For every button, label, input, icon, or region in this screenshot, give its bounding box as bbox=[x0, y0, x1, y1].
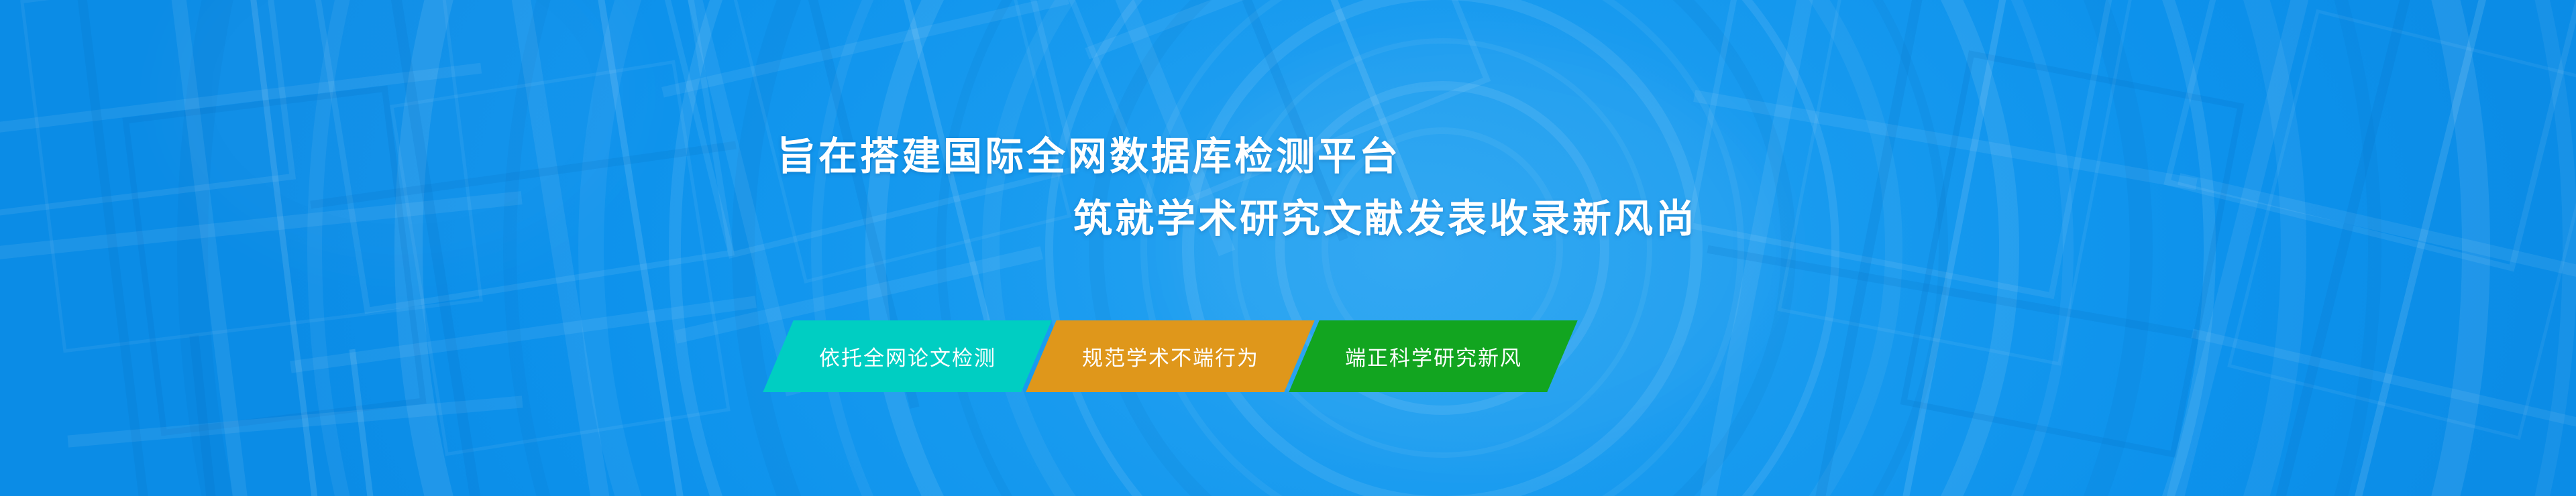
feature-badge-paper-detection[interactable]: 依托全网论文检测 bbox=[763, 320, 1051, 392]
feature-badge-label: 规范学术不端行为 bbox=[1082, 341, 1259, 371]
feature-badge-research-ethics[interactable]: 端正科学研究新风 bbox=[1289, 320, 1577, 392]
hero-banner: 旨在搭建国际全网数据库检测平台 筑就学术研究文献发表收录新风尚 依托全网论文检测… bbox=[0, 0, 2576, 496]
feature-badge-label: 依托全网论文检测 bbox=[819, 341, 996, 371]
geometric-grid-decoration bbox=[0, 0, 2576, 496]
feature-badge-group: 依托全网论文检测 规范学术不端行为 端正科学研究新风 bbox=[778, 320, 1562, 392]
feature-badge-label: 端正科学研究新风 bbox=[1345, 341, 1522, 371]
feature-badge-academic-misconduct[interactable]: 规范学术不端行为 bbox=[1026, 320, 1314, 392]
